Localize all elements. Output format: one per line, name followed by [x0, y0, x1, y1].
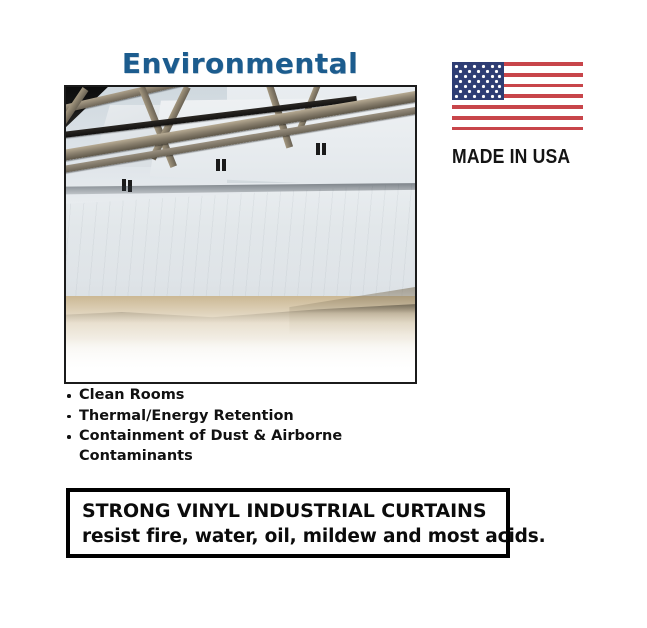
- product-photo-image: [66, 87, 415, 382]
- list-item-label: Clean Rooms: [79, 387, 184, 403]
- photo-bottom-fade: [66, 338, 415, 382]
- feature-list: Clean Rooms Thermal/Energy Retention Con…: [66, 386, 406, 467]
- bullet-dot-icon: [67, 415, 71, 419]
- product-info-card: Environmental: [0, 0, 647, 628]
- list-item-label: Containment of Dust & Airborne: [79, 428, 342, 444]
- statement-headline: STRONG VINYL INDUSTRIAL CURTAINS: [82, 499, 506, 524]
- list-item-label-continuation: Contaminants: [79, 447, 406, 467]
- list-item-label: Thermal/Energy Retention: [79, 408, 294, 424]
- bullet-dot-icon: [67, 394, 71, 398]
- made-in-usa-badge: MADE IN USA: [452, 62, 590, 169]
- list-item: Containment of Dust & Airborne Contamina…: [66, 427, 406, 466]
- statement-box: STRONG VINYL INDUSTRIAL CURTAINS resist …: [66, 488, 510, 558]
- curtain-clip-1: [216, 159, 220, 171]
- page-title: Environmental: [64, 50, 416, 78]
- made-in-usa-caption: MADE IN USA: [452, 146, 573, 169]
- bullet-dot-icon: [67, 435, 71, 439]
- list-item: Thermal/Energy Retention: [66, 407, 406, 427]
- statement-subline: resist fire, water, oil, mildew and most…: [82, 524, 506, 549]
- curtain-clip-4: [322, 143, 326, 155]
- flag-canton: [452, 62, 504, 100]
- curtain-clip-2: [222, 159, 226, 171]
- product-photo: [64, 85, 417, 384]
- list-item: Clean Rooms: [66, 386, 406, 406]
- usa-flag-icon: [452, 62, 583, 132]
- curtain-clip-3: [316, 143, 320, 155]
